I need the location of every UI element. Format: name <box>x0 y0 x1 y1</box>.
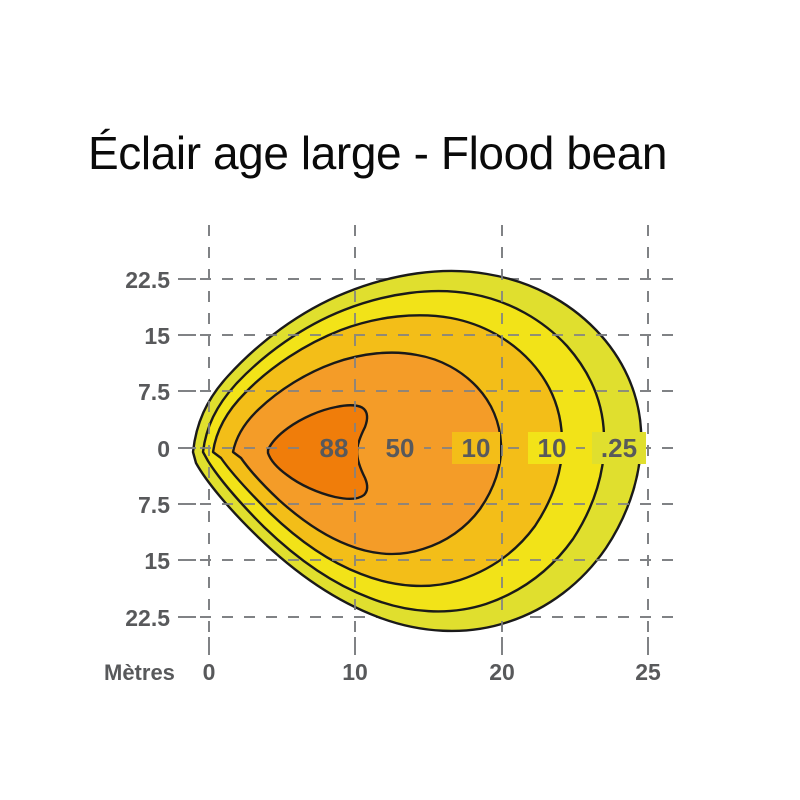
x-tick-label-25: 25 <box>635 659 661 685</box>
y-tick-label-7p5-top: 7.5 <box>138 379 170 405</box>
x-tick-label-20: 20 <box>489 659 515 685</box>
x-axis: 0 10 20 25 Mètres <box>104 637 661 685</box>
y-tick-label-0: 0 <box>157 436 170 462</box>
contour-label-50: 50 <box>386 433 415 463</box>
beam-pattern-chart-page: Éclair age large - Flood bean <box>0 0 800 800</box>
y-axis: 22.5 15 7.5 0 7.5 15 22.5 <box>125 267 196 631</box>
y-tick-label-15-bottom: 15 <box>144 548 170 574</box>
y-tick-label-22p5-bottom: 22.5 <box>125 605 170 631</box>
contour-label-88: 88 <box>320 433 349 463</box>
x-axis-label: Mètres <box>104 660 175 685</box>
x-tick-label-0: 0 <box>203 659 216 685</box>
x-tick-label-10: 10 <box>342 659 368 685</box>
contour-plot: 88 50 10 10 .25 22.5 15 7.5 0 7.5 15 <box>0 0 800 800</box>
y-tick-label-7p5-bottom: 7.5 <box>138 492 170 518</box>
contour-label-0p25: .25 <box>601 433 637 463</box>
y-tick-label-15-top: 15 <box>144 323 170 349</box>
contour-label-10-inner: 10 <box>462 433 491 463</box>
contour-label-10-outer: 10 <box>538 433 567 463</box>
y-tick-label-22p5-top: 22.5 <box>125 267 170 293</box>
